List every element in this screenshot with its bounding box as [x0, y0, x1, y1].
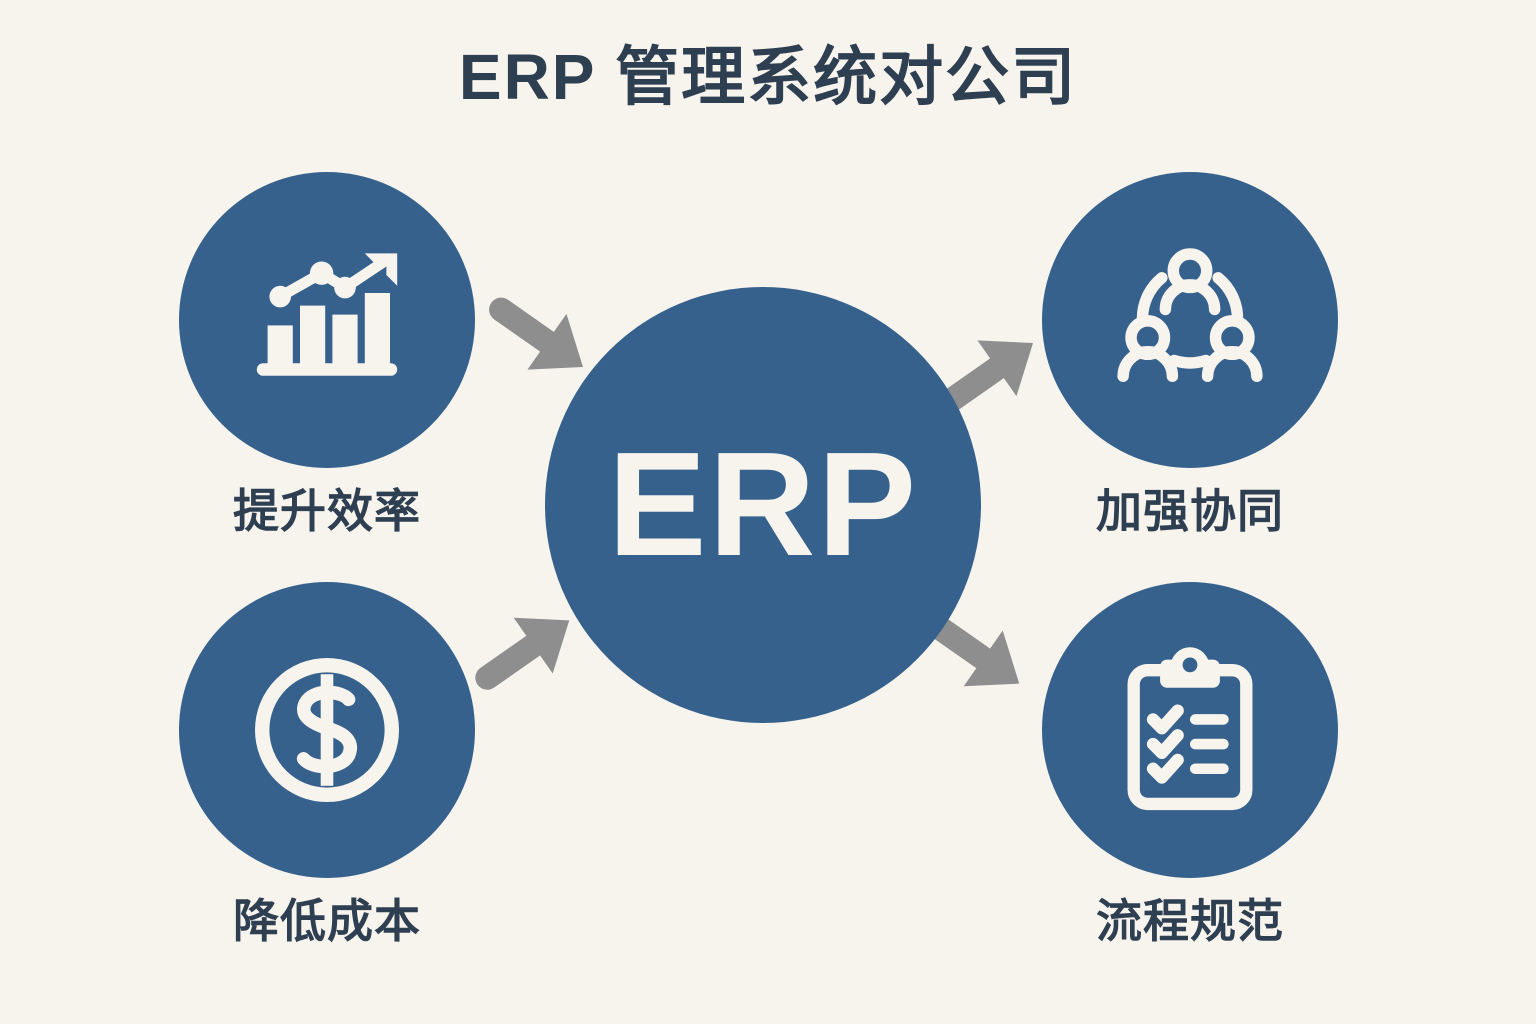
people-network-icon — [1102, 232, 1278, 408]
node-cost[interactable]: 降低成本 — [179, 582, 475, 947]
clipboard-checklist-icon — [1102, 642, 1278, 818]
node-efficiency-circle[interactable] — [179, 172, 475, 468]
arrow-down-left-icon — [458, 593, 589, 713]
dollar-coin-icon — [237, 640, 417, 820]
erp-hub-circle[interactable]: ERP — [545, 287, 981, 723]
node-process[interactable]: 流程规范 — [1042, 582, 1338, 947]
erp-hub-label: ERP — [608, 431, 918, 579]
node-process-circle[interactable] — [1042, 582, 1338, 878]
node-process-label: 流程规范 — [1042, 896, 1338, 947]
node-efficiency[interactable]: 提升效率 — [179, 172, 475, 537]
node-collaboration[interactable]: 加强协同 — [1042, 172, 1338, 537]
node-efficiency-label: 提升效率 — [179, 486, 475, 537]
node-cost-circle[interactable] — [179, 582, 475, 878]
node-cost-label: 降低成本 — [179, 896, 475, 947]
infographic-canvas: ERP 管理系统对公司 ERP — [0, 0, 1536, 1024]
node-collaboration-circle[interactable] — [1042, 172, 1338, 468]
node-collaboration-label: 加强协同 — [1042, 486, 1338, 537]
arrow-up-left-icon — [472, 275, 603, 395]
page-title: ERP 管理系统对公司 — [0, 42, 1536, 112]
bar-chart-growth-icon — [237, 230, 417, 410]
